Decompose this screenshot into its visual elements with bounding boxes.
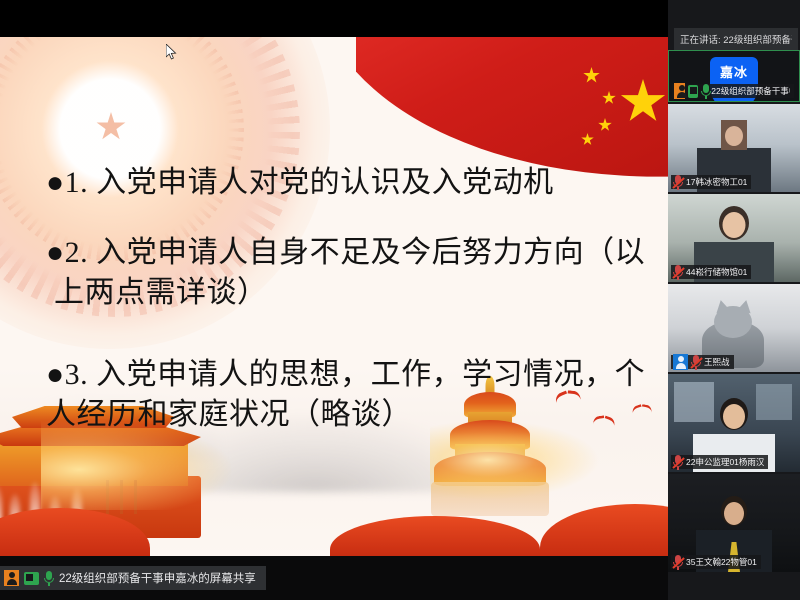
participant-tile-active-speaker[interactable]: 嘉冰 22级组织部预备干事中嘉冰…	[668, 50, 800, 102]
participant-name: 35王文翰22物管01	[686, 556, 757, 568]
participant-name: 王熙战	[704, 356, 730, 368]
participant-name: 44崧行储物馆01	[686, 266, 747, 278]
screen-share-icon	[24, 572, 39, 585]
participant-name: 22申公监理01杨雨汉	[686, 456, 764, 468]
slide-bullet-1: ●1. 入党申请人对党的认识及入党动机	[46, 163, 646, 203]
participant-name: 17韩冰密物工01	[686, 176, 747, 188]
presentation-slide: ●1. 入党申请人对党的认识及入党动机 ●2. 入党申请人自身不足及今后努力方向…	[0, 37, 668, 556]
microphone-muted-icon	[691, 355, 701, 370]
share-status-bar: 22级组织部预备干事申嘉冰的屏幕共享	[0, 556, 668, 600]
share-top-letterbox	[0, 0, 668, 37]
microphone-muted-icon	[673, 455, 683, 470]
participant-name-chip: 22级组织部预备干事中嘉冰…	[672, 84, 794, 98]
participant-tile[interactable]: 王熙战	[668, 284, 800, 372]
slide-bullet-3: ●3. 入党申请人的思想，工作，学习情况，个 人经历和家庭状况（略谈）	[46, 355, 646, 434]
person-icon	[4, 570, 19, 586]
active-speaker-label: 正在讲话: 22级组织部预备干事…	[680, 32, 792, 46]
person-icon	[673, 354, 688, 370]
participant-tile[interactable]: 44崧行储物馆01	[668, 194, 800, 282]
participant-name: 22级组织部预备干事中嘉冰…	[711, 85, 790, 97]
share-status-chip[interactable]: 22级组织部预备干事申嘉冰的屏幕共享	[0, 566, 266, 590]
share-status-label: 22级组织部预备干事申嘉冰的屏幕共享	[59, 570, 256, 586]
participant-name-chip: 王熙战	[671, 355, 734, 369]
screen-share-icon	[688, 85, 699, 98]
active-speaker-banner: 正在讲话: 22级组织部预备干事…	[674, 28, 798, 50]
participant-tile[interactable]: 17韩冰密物工01	[668, 104, 800, 192]
microphone-muted-icon	[673, 175, 683, 190]
participant-name-chip: 35王文翰22物管01	[671, 555, 761, 569]
microphone-muted-icon	[673, 555, 683, 570]
meeting-window: ●1. 入党申请人对党的认识及入党动机 ●2. 入党申请人自身不足及今后努力方向…	[0, 0, 800, 600]
participant-name-chip: 44崧行储物馆01	[671, 265, 751, 279]
shared-screen-area[interactable]: ●1. 入党申请人对党的认识及入党动机 ●2. 入党申请人自身不足及今后努力方向…	[0, 0, 668, 556]
microphone-icon	[701, 84, 708, 99]
slide-text-block: ●1. 入党申请人对党的认识及入党动机 ●2. 入党申请人自身不足及今后努力方向…	[0, 37, 668, 556]
participant-name-chip: 22申公监理01杨雨汉	[671, 455, 768, 469]
microphone-icon	[44, 571, 54, 586]
participant-tile[interactable]: 35王文翰22物管01	[668, 474, 800, 572]
microphone-muted-icon	[673, 265, 683, 280]
person-icon	[674, 83, 685, 99]
participant-name-chip: 17韩冰密物工01	[671, 175, 751, 189]
slide-bullet-2: ●2. 入党申请人自身不足及今后努力方向（以 上两点需详谈）	[46, 233, 646, 312]
avatar-initials: 嘉冰	[720, 62, 748, 81]
participant-tile[interactable]: 22申公监理01杨雨汉	[668, 374, 800, 472]
